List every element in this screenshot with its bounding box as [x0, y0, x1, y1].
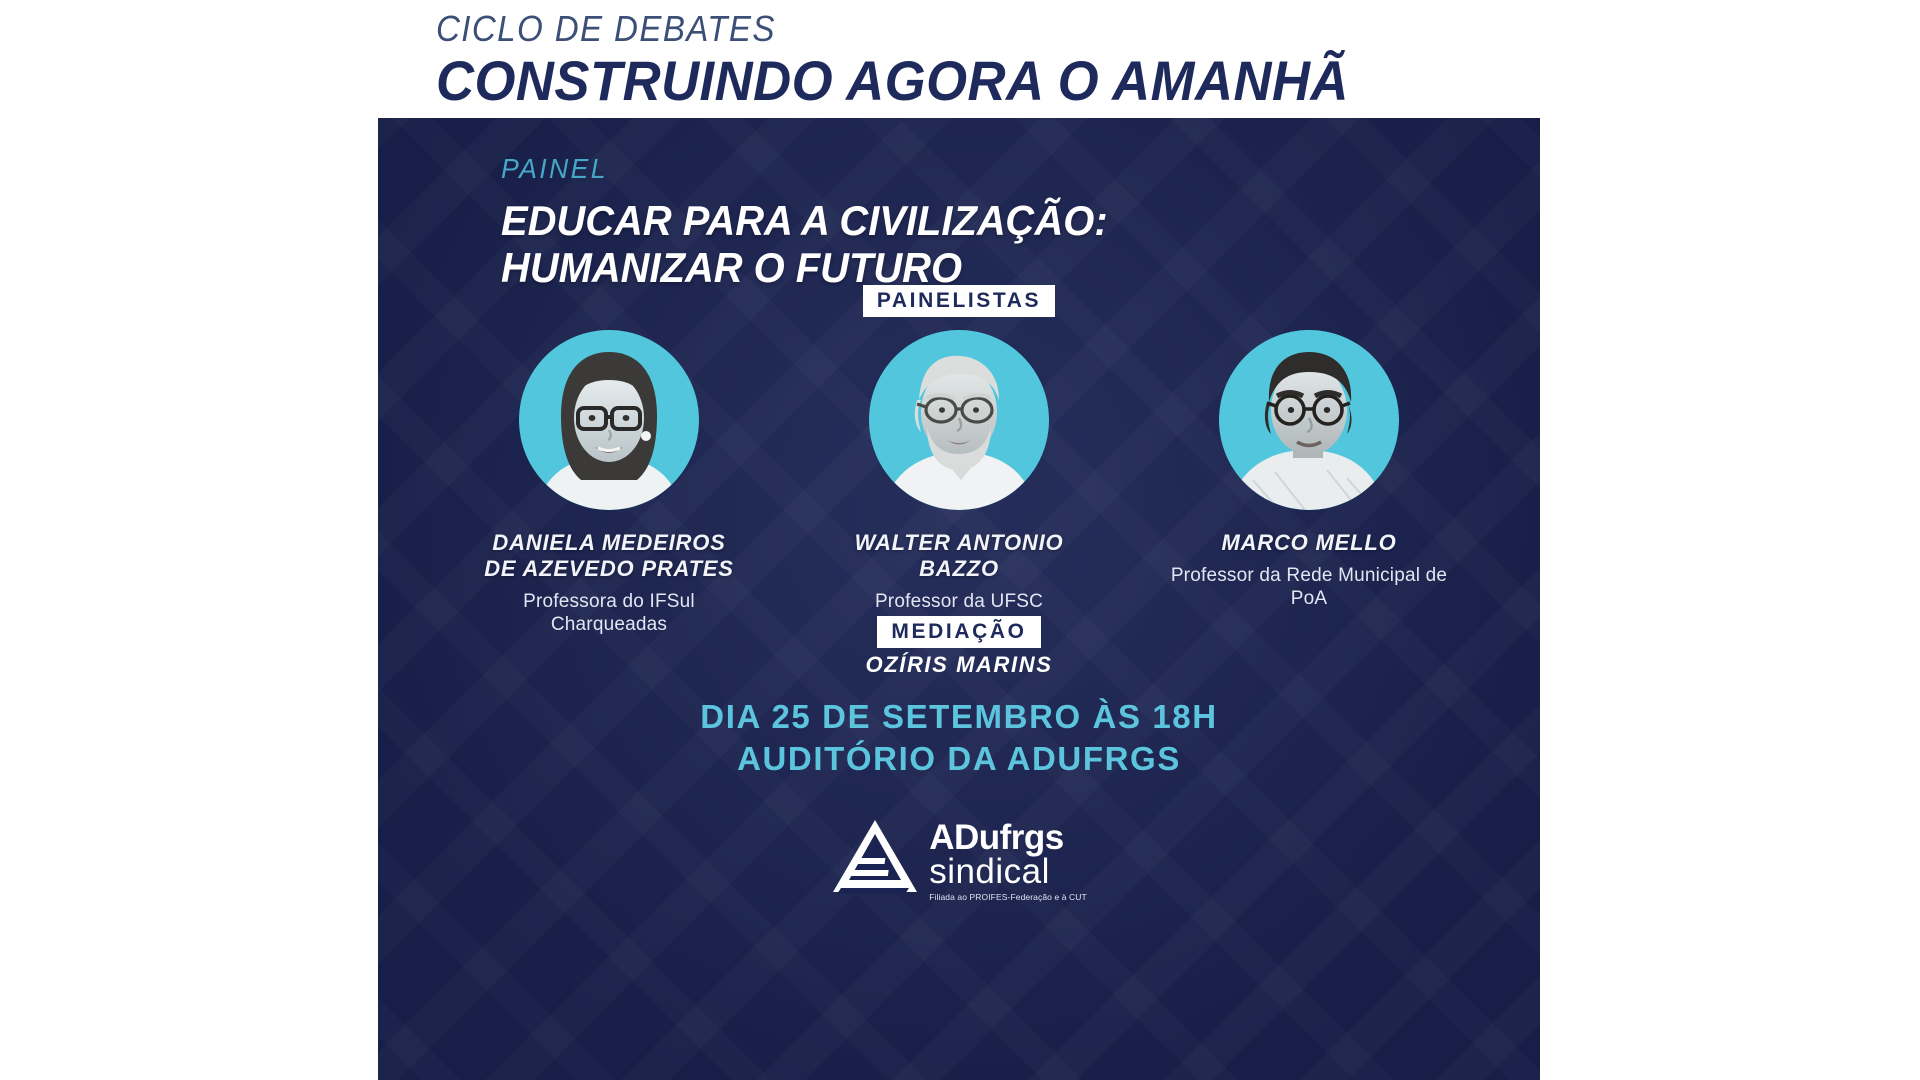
logo-subtitle: sindical — [929, 855, 1087, 888]
panelist-name-line-1: MARCO MELLO — [1164, 530, 1454, 556]
panelist-card: WALTER ANTONIO BAZZO Professor da UFSC — [814, 330, 1104, 614]
panelist-name: WALTER ANTONIO BAZZO — [814, 530, 1104, 582]
panelist-name: DANIELA MEDEIROS DE AZEVEDO PRATES — [464, 530, 754, 582]
panel-title: EDUCAR PARA A CIVILIZAÇÃO: HUMANIZAR O F… — [501, 197, 1108, 291]
panelists-badge: PAINELISTAS — [863, 285, 1055, 317]
panel-title-line-2: HUMANIZAR O FUTURO — [501, 244, 1108, 291]
mediator-name: OZÍRIS MARINS — [378, 652, 1540, 678]
portrait-older-man-beard-icon — [869, 330, 1049, 510]
event-venue: AUDITÓRIO DA ADUFRGS — [378, 738, 1540, 780]
panelist-name-line-2: BAZZO — [814, 556, 1104, 582]
event-details: DIA 25 DE SETEMBRO ÀS 18H AUDITÓRIO DA A… — [378, 696, 1540, 780]
panelist-name: MARCO MELLO — [1164, 530, 1454, 556]
logo-affiliation: Filiada ao PROIFES-Federação e à CUT — [929, 892, 1087, 902]
poster-card: PAINEL EDUCAR PARA A CIVILIZAÇÃO: HUMANI… — [378, 118, 1540, 1080]
panelist-card: MARCO MELLO Professor da Rede Municipal … — [1164, 330, 1454, 611]
portrait-man-glasses-icon — [1219, 330, 1399, 510]
panelist-role: Professor da Rede Municipal de PoA — [1164, 565, 1454, 611]
panelists-badge-row: PAINELISTAS — [378, 285, 1540, 317]
poster-canvas: CICLO DE DEBATES CONSTRUINDO AGORA O AMA… — [0, 0, 1920, 1080]
panel-title-line-1: EDUCAR PARA A CIVILIZAÇÃO: — [501, 197, 1108, 244]
panelist-role: Professor da UFSC — [814, 591, 1104, 614]
mediation-badge-row: MEDIAÇÃO — [378, 616, 1540, 648]
avatar — [869, 330, 1049, 510]
adufrgs-logo: ADufrgs sindical Filiada ao PROIFES-Fede… — [831, 818, 1087, 902]
avatar — [1219, 330, 1399, 510]
logo-text: ADufrgs sindical Filiada ao PROIFES-Fede… — [929, 818, 1087, 902]
event-series-kicker: CICLO DE DEBATES — [436, 10, 1448, 48]
panel-title-block: PAINEL EDUCAR PARA A CIVILIZAÇÃO: HUMANI… — [501, 155, 1140, 291]
adufrgs-triangle-logo-icon — [831, 818, 919, 896]
portrait-woman-glasses-icon — [519, 330, 699, 510]
avatar — [519, 330, 699, 510]
poster-header: CICLO DE DEBATES CONSTRUINDO AGORA O AMA… — [436, 10, 1536, 111]
mediation-badge: MEDIAÇÃO — [877, 616, 1040, 648]
panelist-name-line-2: DE AZEVEDO PRATES — [464, 556, 754, 582]
event-series-headline: CONSTRUINDO AGORA O AMANHÃ — [436, 52, 1470, 111]
logo-title: ADufrgs — [929, 822, 1087, 854]
panelists-list: DANIELA MEDEIROS DE AZEVEDO PRATES Profe… — [378, 330, 1540, 637]
panelist-name-line-1: WALTER ANTONIO — [814, 530, 1104, 556]
logo-area: ADufrgs sindical Filiada ao PROIFES-Fede… — [378, 818, 1540, 902]
event-date: DIA 25 DE SETEMBRO ÀS 18H — [378, 696, 1540, 738]
panelist-name-line-1: DANIELA MEDEIROS — [464, 530, 754, 556]
panel-label: PAINEL — [501, 155, 1108, 183]
panelist-card: DANIELA MEDEIROS DE AZEVEDO PRATES Profe… — [464, 330, 754, 637]
